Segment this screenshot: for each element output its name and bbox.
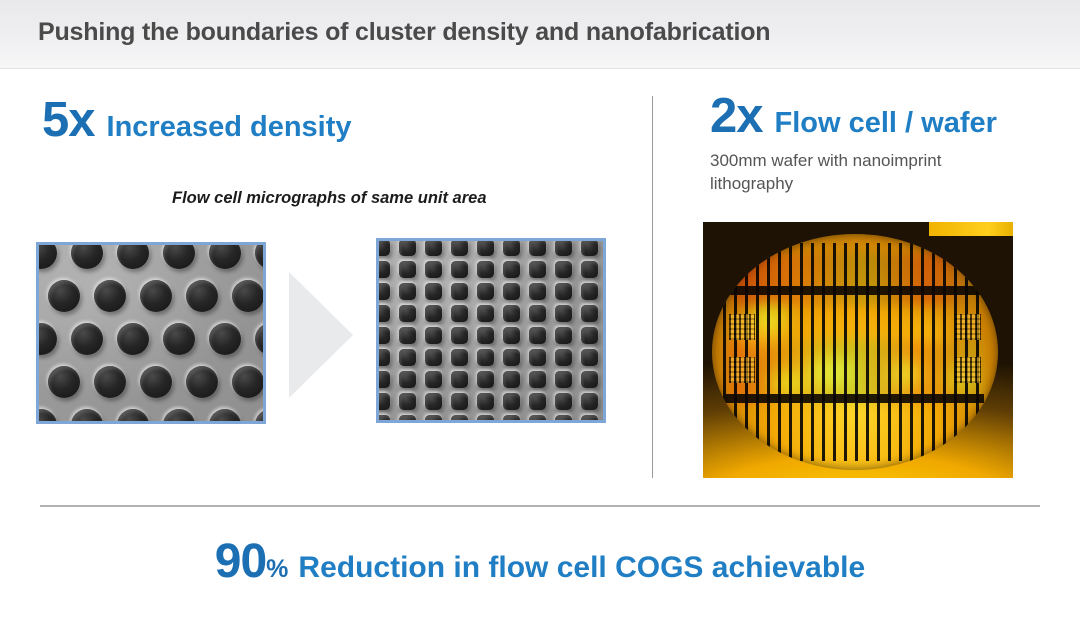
micrograph-well	[581, 371, 598, 388]
wafer-photo	[703, 222, 1013, 478]
micrograph-well	[425, 305, 442, 322]
micrograph-well	[503, 261, 520, 278]
micrograph-well	[581, 283, 598, 300]
micrograph-well	[451, 305, 468, 322]
micrograph-well	[555, 415, 572, 424]
bottom-banner-label: Reduction in flow cell COGS achievable	[298, 553, 865, 583]
micrograph-well	[36, 242, 57, 269]
micrograph-well	[425, 349, 442, 366]
micrograph-well	[399, 371, 416, 388]
micrograph-well	[232, 366, 264, 398]
micrograph-well	[425, 415, 442, 424]
micrograph-well	[48, 280, 80, 312]
micrograph-well	[140, 366, 172, 398]
left-stat-label: Increased density	[107, 113, 352, 142]
micrograph-before	[36, 242, 266, 424]
micrograph-well	[503, 371, 520, 388]
wafer-corner-die-right-upper	[955, 314, 981, 340]
micrograph-well	[163, 242, 195, 269]
bottom-stat-value: 90	[215, 538, 266, 586]
bottom-horizontal-divider	[40, 505, 1040, 507]
micrograph-after-surface	[379, 241, 603, 420]
micrograph-well	[117, 409, 149, 424]
micrograph-well	[425, 239, 442, 256]
micrograph-well	[477, 283, 494, 300]
micrograph-well	[581, 239, 598, 256]
left-panel-headline: 5x Increased density	[42, 96, 352, 145]
micrograph-well	[186, 366, 218, 398]
micrograph-well	[451, 283, 468, 300]
micrograph-well	[581, 349, 598, 366]
micrograph-well	[399, 283, 416, 300]
micrograph-well	[451, 415, 468, 424]
micrograph-well	[451, 239, 468, 256]
micrograph-well	[399, 261, 416, 278]
micrograph-well	[555, 371, 572, 388]
micrograph-well	[555, 305, 572, 322]
wafer-corner-die-left-lower	[729, 357, 755, 383]
micrograph-well	[117, 323, 149, 355]
micrograph-well	[255, 242, 266, 269]
micrograph-well	[503, 393, 520, 410]
micrograph-well	[425, 371, 442, 388]
micrograph-well	[477, 305, 494, 322]
micrograph-well	[503, 415, 520, 424]
micrograph-well	[503, 239, 520, 256]
micrograph-well	[555, 393, 572, 410]
micrograph-well	[477, 393, 494, 410]
micrograph-well	[451, 371, 468, 388]
micrograph-well	[399, 239, 416, 256]
micrograph-well	[94, 366, 126, 398]
micrograph-well	[425, 327, 442, 344]
micrograph-well	[581, 393, 598, 410]
micrograph-well	[399, 393, 416, 410]
micrograph-well	[94, 280, 126, 312]
micrograph-well	[451, 393, 468, 410]
micrograph-well	[503, 305, 520, 322]
micrograph-well	[477, 261, 494, 278]
micrograph-before-surface	[39, 245, 263, 421]
micrograph-well	[376, 371, 390, 388]
micrograph-well	[399, 415, 416, 424]
micrograph-well	[376, 283, 390, 300]
micrograph-well	[555, 283, 572, 300]
micrograph-well	[451, 261, 468, 278]
micrograph-well	[209, 323, 241, 355]
micrograph-well	[581, 305, 598, 322]
micrograph-well	[255, 323, 266, 355]
wafer-die-stripes	[723, 243, 986, 460]
micrograph-well	[36, 409, 57, 424]
right-stat-label: Flow cell / wafer	[775, 109, 997, 138]
micrograph-well	[529, 393, 546, 410]
micrograph-well	[425, 261, 442, 278]
wafer-scribe-line-top	[726, 286, 983, 295]
micrograph-well	[163, 323, 195, 355]
micrograph-well	[451, 349, 468, 366]
wafer-disc	[712, 234, 998, 470]
micrograph-well	[529, 239, 546, 256]
micrograph-well	[529, 283, 546, 300]
wafer-scribe-line-bottom	[726, 394, 983, 403]
micrograph-well	[376, 239, 390, 256]
left-stat-value: 5x	[42, 96, 95, 145]
micrograph-well	[399, 305, 416, 322]
micrograph-well	[477, 371, 494, 388]
micrograph-well	[503, 283, 520, 300]
micrograph-well	[71, 242, 103, 269]
micrograph-well	[581, 327, 598, 344]
micrograph-well	[48, 366, 80, 398]
micrograph-well	[503, 327, 520, 344]
micrograph-well	[376, 327, 390, 344]
micrograph-well	[376, 305, 390, 322]
right-stat-value: 2x	[710, 92, 763, 141]
micrograph-well	[451, 327, 468, 344]
page-title: Pushing the boundaries of cluster densit…	[38, 18, 770, 47]
wafer-corner-die-right-lower	[955, 357, 981, 383]
bottom-stat-suffix: %	[266, 557, 288, 582]
micrograph-caption: Flow cell micrographs of same unit area	[172, 189, 487, 208]
wafer-sub-caption: 300mm wafer with nanoimprint lithography	[710, 150, 1010, 196]
micrograph-after	[376, 238, 606, 423]
micrograph-well	[555, 261, 572, 278]
micrograph-well	[529, 415, 546, 424]
wafer-corner-die-left-upper	[729, 314, 755, 340]
micrograph-well	[425, 283, 442, 300]
micrograph-well	[140, 280, 172, 312]
micrograph-well	[529, 349, 546, 366]
micrograph-well	[555, 239, 572, 256]
micrograph-well	[163, 409, 195, 424]
micrograph-well	[36, 323, 57, 355]
micrograph-well	[529, 371, 546, 388]
panel-vertical-divider	[652, 96, 653, 478]
micrograph-well	[555, 327, 572, 344]
micrograph-well	[376, 393, 390, 410]
micrograph-well	[399, 327, 416, 344]
micrograph-well	[376, 415, 390, 424]
right-panel-headline: 2x Flow cell / wafer	[710, 92, 997, 141]
micrograph-well	[477, 415, 494, 424]
micrograph-well	[529, 261, 546, 278]
micrograph-well	[503, 349, 520, 366]
micrograph-well	[477, 349, 494, 366]
arrow-right-icon	[289, 272, 353, 398]
micrograph-well	[209, 409, 241, 424]
micrograph-well	[477, 239, 494, 256]
micrograph-well	[529, 327, 546, 344]
micrograph-well	[581, 261, 598, 278]
micrograph-well	[529, 305, 546, 322]
micrograph-well	[186, 280, 218, 312]
micrograph-well	[425, 393, 442, 410]
micrograph-well	[71, 409, 103, 424]
micrograph-well	[399, 349, 416, 366]
micrograph-well	[117, 242, 149, 269]
micrograph-well	[376, 349, 390, 366]
micrograph-well	[232, 280, 264, 312]
micrograph-well	[581, 415, 598, 424]
bottom-banner: 90 % Reduction in flow cell COGS achieva…	[0, 538, 1080, 586]
micrograph-well	[71, 323, 103, 355]
micrograph-well	[209, 242, 241, 269]
micrograph-well	[255, 409, 266, 424]
micrograph-well	[477, 327, 494, 344]
wafer-photo-highlight-bar	[929, 222, 1013, 236]
micrograph-well	[555, 349, 572, 366]
micrograph-well	[376, 261, 390, 278]
